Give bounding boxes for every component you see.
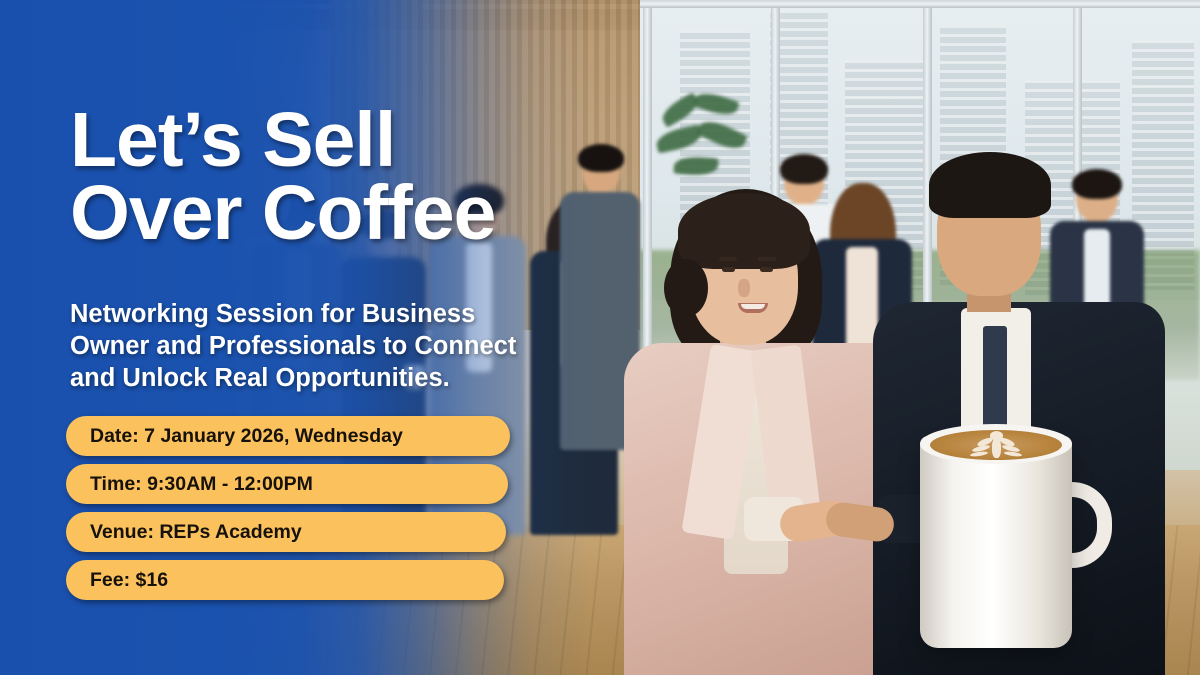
subtitle: Networking Session for Business Owner an… xyxy=(70,298,590,394)
detail-pill-venue-text: Venue: REPs Academy xyxy=(66,521,302,544)
detail-pill-time: Time: 9:30AM - 12:00PM xyxy=(66,464,508,504)
page-title: Let’s Sell Over Coffee xyxy=(70,104,600,252)
title-line-1: Let’s Sell xyxy=(70,104,600,178)
detail-pill-venue: Venue: REPs Academy xyxy=(66,512,506,552)
detail-pill-fee: Fee: $16 xyxy=(66,560,504,600)
event-details-list: Date: 7 January 2026, Wednesday Time: 9:… xyxy=(66,416,510,608)
detail-pill-time-text: Time: 9:30AM - 12:00PM xyxy=(66,473,313,496)
detail-pill-date: Date: 7 January 2026, Wednesday xyxy=(66,416,510,456)
detail-pill-fee-text: Fee: $16 xyxy=(66,569,168,592)
title-line-2: Over Coffee xyxy=(70,177,600,251)
subtitle-line-1: Networking Session for Business xyxy=(70,298,590,330)
banner-content: Let’s Sell Over Coffee Networking Sessio… xyxy=(0,0,600,675)
event-banner: Let’s Sell Over Coffee Networking Sessio… xyxy=(0,0,1200,675)
subtitle-line-2: Owner and Professionals to Connect xyxy=(70,330,590,362)
detail-pill-date-text: Date: 7 January 2026, Wednesday xyxy=(66,425,403,448)
subtitle-line-3: and Unlock Real Opportunities. xyxy=(70,362,590,394)
